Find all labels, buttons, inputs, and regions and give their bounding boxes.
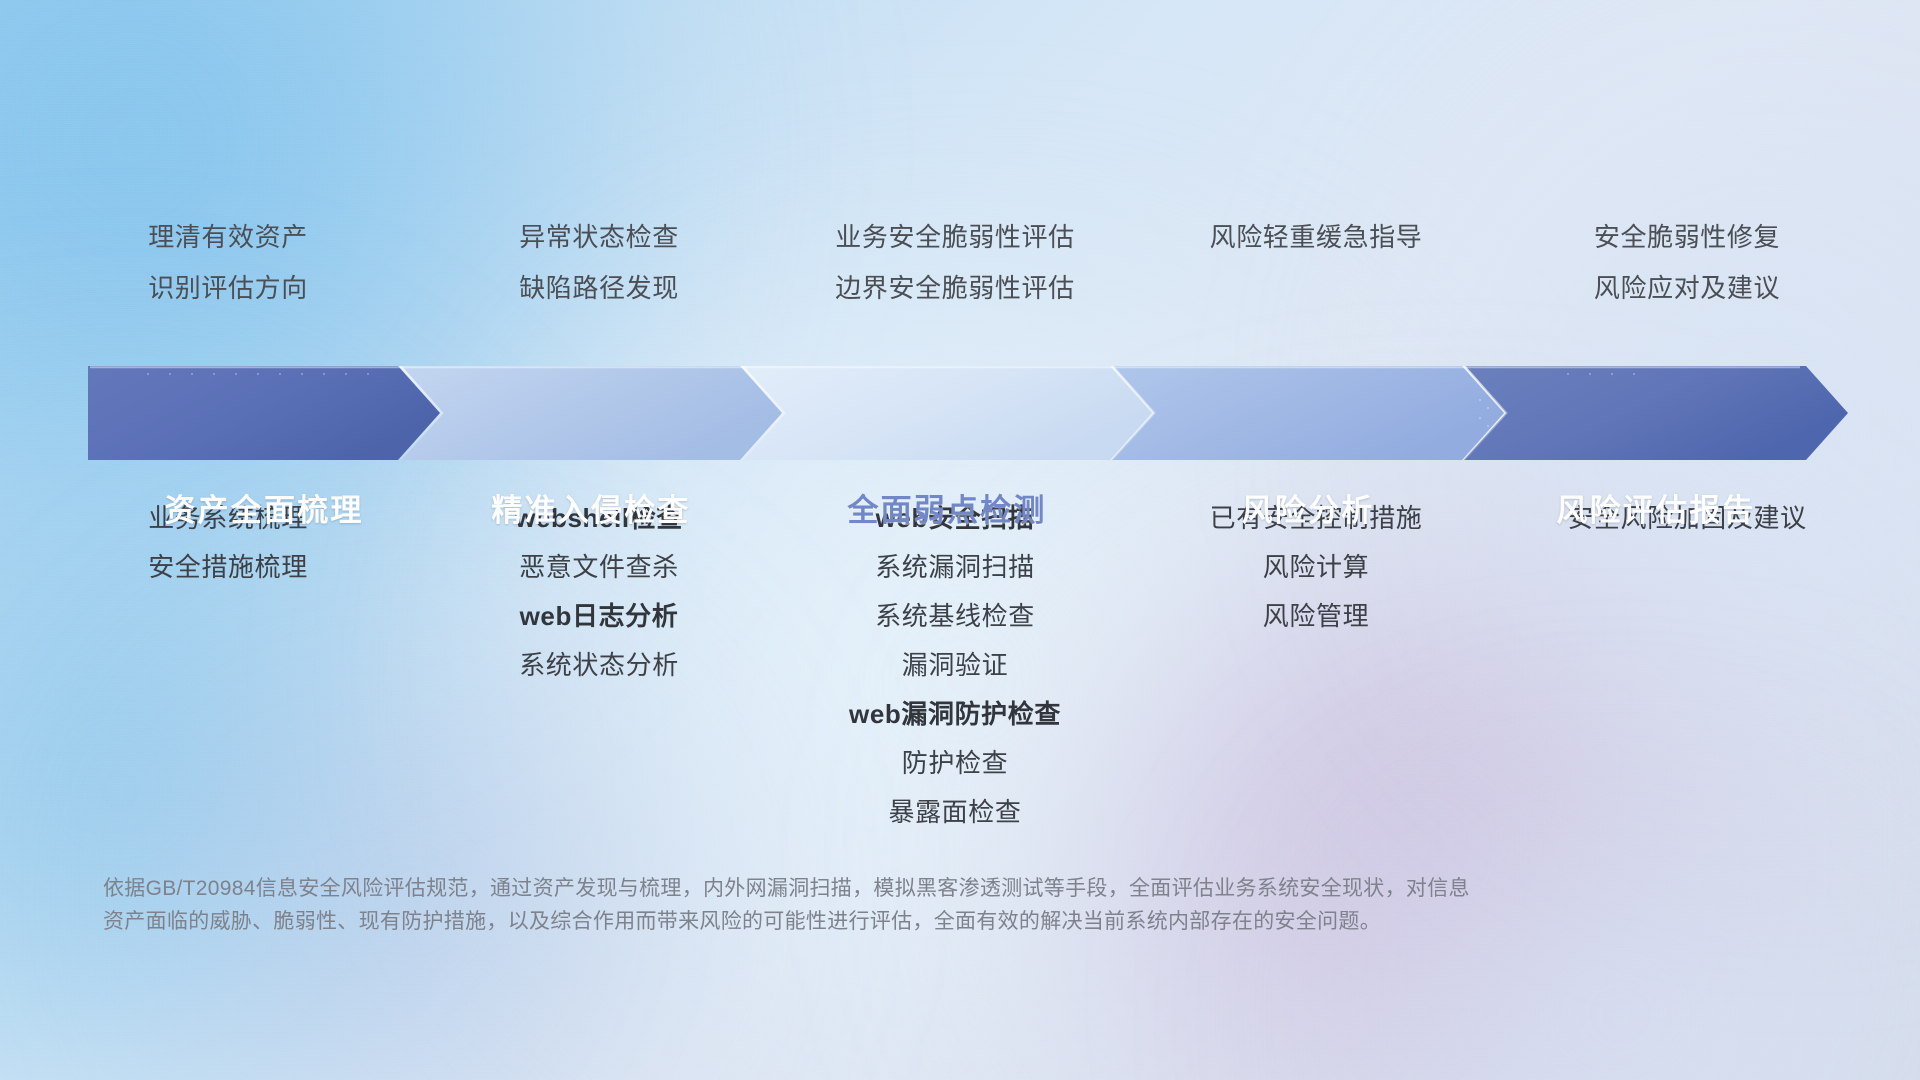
task-item: 系统状态分析 [519, 652, 679, 678]
stage-tasks-intrusion-check: webshell检查 恶意文件查杀 web日志分析 系统状态分析 [428, 505, 770, 825]
outcome-item: 业务安全脆弱性评估 [835, 224, 1074, 250]
task-item: 恶意文件查杀 [519, 554, 679, 580]
task-item: 安全风险加固及建议 [1567, 505, 1806, 531]
task-item: 漏洞验证 [902, 652, 1008, 678]
task-item: web安全扫描 [876, 505, 1035, 531]
outcome-item: 理清有效资产 [148, 224, 308, 250]
stage-tasks-weakness-detection: web安全扫描 系统漏洞扫描 系统基线检查 漏洞验证 web漏洞防护检查 防护检… [770, 505, 1140, 825]
task-item: 安全措施梳理 [148, 554, 308, 580]
task-item: 已有安全控制措施 [1210, 505, 1423, 531]
task-item: 系统基线检查 [875, 603, 1035, 629]
task-item: webshell检查 [515, 505, 683, 531]
stage-outcomes-risk-analysis: 风险轻重缓急指导 [1140, 224, 1492, 301]
outcome-item: 安全脆弱性修复 [1594, 224, 1780, 250]
footnote-line-1: 依据GB/T20984信息安全风险评估规范，通过资产发现与梳理，内外网漏洞扫描，… [103, 872, 1623, 905]
stage-tasks-assessment-report: 安全风险加固及建议 [1492, 505, 1882, 825]
footnote-description: 依据GB/T20984信息安全风险评估规范，通过资产发现与梳理，内外网漏洞扫描，… [103, 872, 1623, 938]
task-item: 防护检查 [902, 750, 1008, 776]
outcome-item: 异常状态检查 [519, 224, 679, 250]
outcome-item: 边界安全脆弱性评估 [835, 275, 1074, 301]
stage-outcomes-row: 理清有效资产 识别评估方向 异常状态检查 缺陷路径发现 业务安全脆弱性评估 边界… [0, 224, 1920, 301]
stage-outcomes-assessment-report: 安全脆弱性修复 风险应对及建议 [1492, 224, 1882, 301]
task-item: 风险计算 [1263, 554, 1369, 580]
stage-chevron-band: 资产全面梳理 精准入侵检查 全面弱点检测 风险分析 风险评估报告 [88, 366, 1848, 460]
task-item: web日志分析 [520, 603, 679, 629]
outcome-item: 风险轻重缓急指导 [1210, 224, 1423, 250]
stage-tasks-row: 业务系统梳理 安全措施梳理 webshell检查 恶意文件查杀 web日志分析 … [0, 505, 1920, 825]
outcome-item: 风险应对及建议 [1594, 275, 1780, 301]
stage-outcomes-asset-inventory: 理清有效资产 识别评估方向 [28, 224, 428, 301]
outcome-item: 识别评估方向 [148, 275, 308, 301]
task-item: 业务系统梳理 [148, 505, 308, 531]
task-item: 风险管理 [1263, 603, 1369, 629]
stage-tasks-asset-inventory: 业务系统梳理 安全措施梳理 [28, 505, 428, 825]
outcome-item: 缺陷路径发现 [519, 275, 679, 301]
stage-outcomes-intrusion-check: 异常状态检查 缺陷路径发现 [428, 224, 770, 301]
task-item: web漏洞防护检查 [849, 701, 1061, 727]
task-item: 系统漏洞扫描 [875, 554, 1035, 580]
process-diagram: 理清有效资产 识别评估方向 异常状态检查 缺陷路径发现 业务安全脆弱性评估 边界… [0, 0, 1920, 1080]
stage-outcomes-weakness-detection: 业务安全脆弱性评估 边界安全脆弱性评估 [770, 224, 1140, 301]
footnote-line-2: 资产面临的威胁、脆弱性、现有防护措施，以及综合作用而带来风险的可能性进行评估，全… [103, 905, 1623, 938]
task-item: 暴露面检查 [888, 799, 1021, 825]
stage-tasks-risk-analysis: 已有安全控制措施 风险计算 风险管理 [1140, 505, 1492, 825]
